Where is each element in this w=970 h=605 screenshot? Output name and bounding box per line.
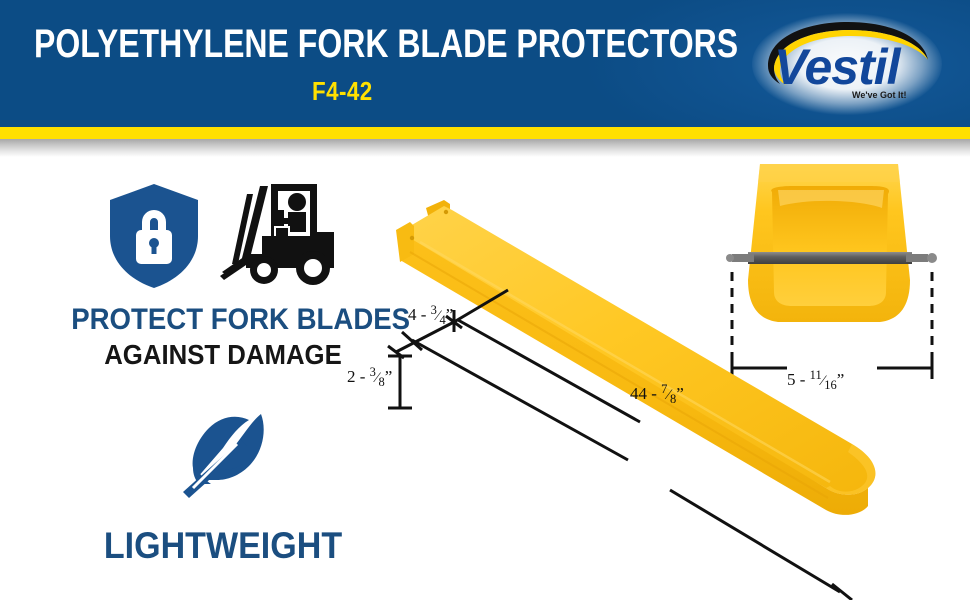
diagram-artwork (340, 160, 970, 600)
header-drop-shadow (0, 139, 970, 157)
header-band: POLYETHYLENE FORK BLADE PROTECTORS F4-42… (0, 0, 970, 127)
dimension-label-length: 44 - 7⁄8” (630, 382, 684, 407)
dimension-height-unit: ” (385, 367, 393, 386)
infographic-page: POLYETHYLENE FORK BLADE PROTECTORS F4-42… (0, 0, 970, 600)
feather-icon (163, 400, 283, 512)
vestil-logo: Vestil We've Got It! (752, 12, 942, 116)
dimension-depth-whole: 5 - (787, 370, 810, 389)
shield-lock-icon (106, 180, 202, 292)
dimension-depth-unit: ” (837, 370, 845, 389)
dimension-label-depth: 5 - 11⁄16” (787, 368, 844, 393)
dimension-width-unit: ” (446, 305, 454, 324)
feature-protect-line2: AGAINST DAMAGE (71, 340, 375, 370)
logo-tagline: We've Got It! (852, 90, 906, 100)
dimension-height-numerator: 3 (370, 365, 376, 379)
dimension-width-numerator: 3 (431, 303, 437, 317)
dimension-label-height: 2 - 3⁄8” (347, 365, 392, 390)
dimension-length-numerator: 7 (661, 382, 667, 396)
dimension-depth-numerator: 11 (810, 368, 822, 382)
header-yellow-rule (0, 127, 970, 139)
model-number: F4-42 (312, 76, 373, 106)
dimension-label-width: 4 - 3⁄4” (408, 303, 453, 328)
feature-protect-fork-blades: PROTECT FORK BLADES AGAINST DAMAGE (58, 180, 388, 370)
dimension-width-whole: 4 - (408, 305, 431, 324)
svg-text:Vestil: Vestil (774, 39, 902, 95)
dimension-length-whole: 44 - (630, 384, 661, 403)
dimension-length-unit: ” (676, 384, 684, 403)
feature-protect-line1: PROTECT FORK BLADES (71, 304, 375, 336)
dimension-depth-denominator: 16 (824, 378, 837, 392)
feature-icon-row (58, 180, 388, 292)
page-title: POLYETHYLENE FORK BLADE PROTECTORS (34, 22, 586, 66)
product-diagram: 4 - 3⁄4” 2 - 3⁄8” 44 - 7⁄8” 5 - 11⁄16” (340, 160, 970, 600)
forklift-icon (216, 180, 341, 292)
feature-lightweight: LIGHTWEIGHT (58, 400, 388, 566)
dimension-height-whole: 2 - (347, 367, 370, 386)
logo-artwork: Vestil We've Got It! (752, 12, 942, 116)
end-view-product (726, 160, 937, 322)
feature-icon-row (58, 400, 388, 512)
feature-lightweight-label: LIGHTWEIGHT (71, 526, 375, 566)
